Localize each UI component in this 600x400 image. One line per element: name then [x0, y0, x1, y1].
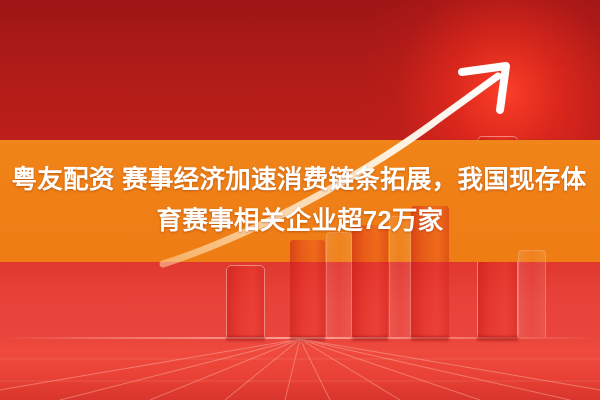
bar-8-outline	[518, 250, 546, 337]
bar-1-base	[226, 336, 265, 341]
bar-4-base	[352, 336, 388, 341]
bar-1-outline	[226, 265, 265, 337]
bar-1	[226, 265, 265, 337]
headline-line-1: 粤友配资 赛事经济加速消费链条拓展，我国现存体	[12, 160, 587, 201]
banner-image: 粤友配资 赛事经济加速消费链条拓展，我国现存体 育赛事相关企业超72万家	[0, 0, 600, 400]
headline-line-2: 育赛事相关企业超72万家	[157, 201, 444, 242]
bar-7-lower-outline	[477, 262, 518, 337]
bar-6-base	[411, 336, 449, 341]
headline: 粤友配资 赛事经济加速消费链条拓展，我国现存体 育赛事相关企业超72万家	[0, 140, 600, 262]
bar-7-lower-base	[477, 336, 518, 341]
bar-8	[518, 250, 546, 337]
bar-7-lower	[477, 262, 518, 337]
bar-2-base	[290, 336, 325, 341]
